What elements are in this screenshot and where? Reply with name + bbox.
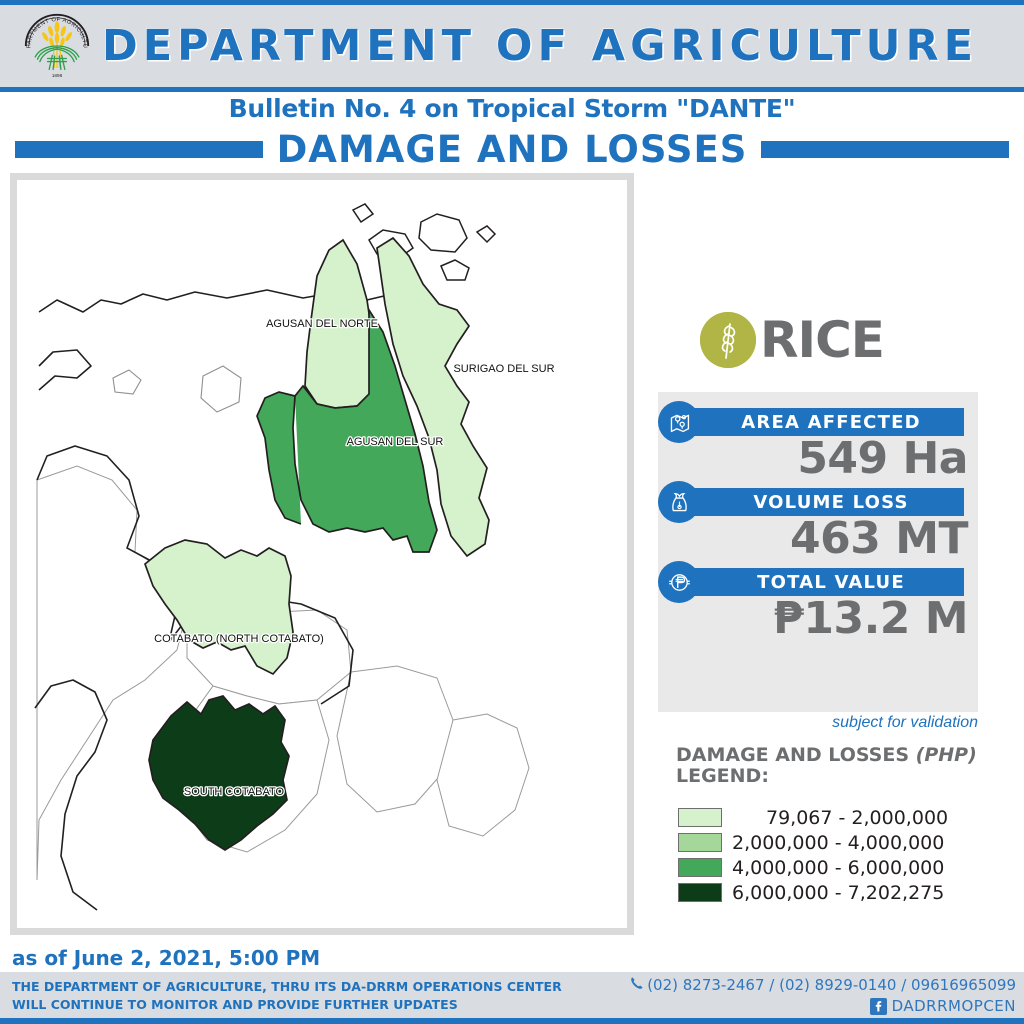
legend-row: 6,000,000 - 7,202,275 [678,880,1008,905]
da-seal-logo: DEPARTMENT OF AGRICULTURE 1898 [18,7,96,85]
damage-and-losses-title: DAMAGE AND LOSSES [277,128,748,171]
stat-bar: VOLUME LOSS [672,488,964,516]
phone-icon [629,975,645,995]
stat-bar: AREA AFFECTED [672,408,964,436]
legend-title: DAMAGE AND LOSSES (PHP) LEGEND: [676,745,1006,788]
map-label: AGUSAN DEL SUR [347,436,444,448]
wheat-stalk-icon [700,312,756,368]
legend-row: 2,000,000 - 4,000,000 [678,830,1008,855]
stat-value: ₱13.2 M [658,596,978,642]
phone-contact[interactable]: (02) 8273-2467 / (02) 8929-0140 / 096169… [596,975,1016,995]
legend-swatch [678,858,722,877]
legend-title-second: LEGEND: [676,765,769,787]
footer-note-line2: WILL CONTINUE TO MONITOR AND PROVIDE FUR… [12,996,612,1014]
stat-label: TOTAL VALUE [731,572,905,593]
stat-label: AREA AFFECTED [715,412,920,433]
footer-note: THE DEPARTMENT OF AGRICULTURE, THRU ITS … [12,978,612,1014]
title-rule-right [761,141,1009,158]
grain-sack-icon [658,481,700,523]
stat-area-affected: AREA AFFECTED 549 Ha [658,392,978,482]
map-label: AGUSAN DEL NORTE [266,318,378,330]
phone-numbers: (02) 8273-2467 / (02) 8929-0140 / 096169… [647,976,1016,994]
map-pins-icon [658,401,700,443]
bulletin-subtitle: Bulletin No. 4 on Tropical Storm "DANTE" [0,94,1024,123]
bottom-accent-rule [0,1018,1024,1024]
stat-volume-loss: VOLUME LOSS 463 MT [658,482,978,562]
validation-note: subject for validation [658,714,978,732]
legend-row: 79,067 - 2,000,000 [678,805,1008,830]
header-divider-rule [0,87,1024,92]
map-label: SURIGAO DEL SUR [453,363,554,375]
footer-note-line1: THE DEPARTMENT OF AGRICULTURE, THRU ITS … [12,978,612,996]
stat-label: VOLUME LOSS [727,492,908,513]
map-panel: AGUSAN DEL NORTESURIGAO DEL SURAGUSAN DE… [10,173,634,935]
stat-value: 549 Ha [658,436,978,482]
crop-header: RICE [700,312,884,368]
legend-range-label: 4,000,000 - 6,000,000 [732,857,944,879]
footer-contacts: (02) 8273-2467 / (02) 8929-0140 / 096169… [596,975,1016,1015]
title-rule-left [15,141,263,158]
damage-title-row: DAMAGE AND LOSSES [0,128,1024,170]
legend-swatch [678,833,722,852]
legend-swatch [678,883,722,902]
legend-range-label: 2,000,000 - 4,000,000 [732,832,944,854]
legend-list: 79,067 - 2,000,0002,000,000 - 4,000,0004… [678,805,1008,905]
mindanao-map[interactable]: AGUSAN DEL NORTESURIGAO DEL SURAGUSAN DE… [17,180,627,928]
legend-row: 4,000,000 - 6,000,000 [678,855,1008,880]
facebook-contact[interactable]: DADRRMOPCEN [596,997,1016,1015]
page-header: DEPARTMENT OF AGRICULTURE 1898 [0,5,1024,87]
as-of-timestamp: as of June 2, 2021, 5:00 PM [12,946,320,970]
map-label: COTABATO (NORTH COTABATO) [154,633,324,645]
legend-title-main: DAMAGE AND LOSSES [676,744,916,766]
legend-title-php: (PHP) [916,744,977,766]
page-title: DEPARTMENT OF AGRICULTURE [96,21,1024,71]
facebook-icon [870,998,887,1015]
legend-range-label: 6,000,000 - 7,202,275 [732,882,944,904]
map-label: SOUTH COTABATO [184,786,285,798]
legend-range-label: 79,067 - 2,000,000 [766,807,948,829]
stat-bar: TOTAL VALUE [672,568,964,596]
crop-name: RICE [760,315,884,365]
facebook-handle: DADRRMOPCEN [892,997,1016,1015]
map-canvas[interactable]: AGUSAN DEL NORTESURIGAO DEL SURAGUSAN DE… [17,180,627,928]
stat-total-value: TOTAL VALUE ₱13.2 M [658,562,978,642]
svg-text:1898: 1898 [52,73,63,78]
stat-value: 463 MT [658,516,978,562]
stats-panel: AREA AFFECTED 549 Ha VOLUME LOSS 463 MT [658,392,978,712]
legend-swatch [678,808,722,827]
